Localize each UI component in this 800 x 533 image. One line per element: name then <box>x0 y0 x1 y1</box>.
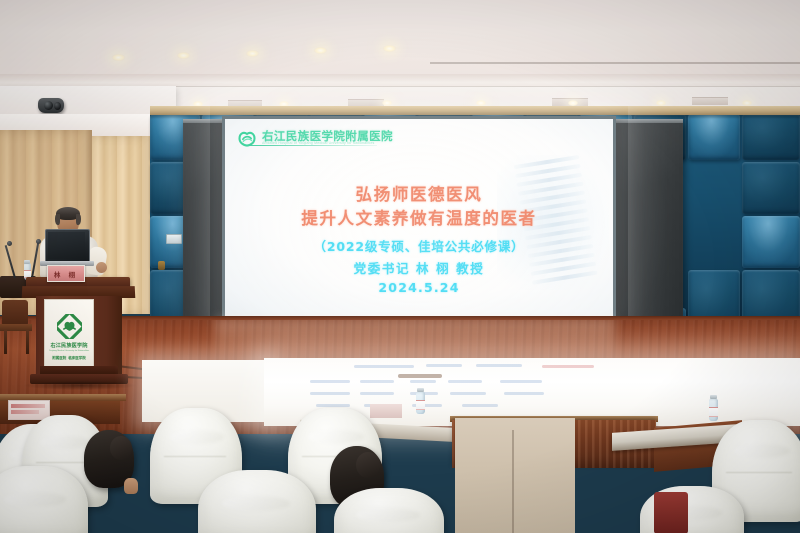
wall-pad <box>742 114 800 160</box>
chair-fold <box>356 508 420 522</box>
ceiling-upper <box>0 0 800 78</box>
chair-seam <box>164 456 226 457</box>
chair-fold <box>40 436 90 449</box>
ceiling-downlight <box>246 50 259 57</box>
lecture-hall-photo: 右江民族医学院附属医院 Affiliated Hospital of Youji… <box>0 0 800 533</box>
chair-fold <box>308 430 364 444</box>
red-seat-cushion <box>654 492 688 533</box>
slide-organization-name: 右江民族医学院附属医院 <box>262 130 393 142</box>
blackboard-rail <box>611 119 683 123</box>
desk-placard-text <box>11 410 39 414</box>
ceiling-seam <box>430 62 800 64</box>
banner-text-line <box>310 392 350 395</box>
side-chair-leg <box>4 330 7 354</box>
wall-pad <box>688 114 740 160</box>
attendee-hair-bun <box>110 436 132 460</box>
chair-fold <box>4 492 66 507</box>
banner-text-line <box>542 365 594 368</box>
camera-lens-icon <box>54 102 61 110</box>
podium-organization-name: 右江民族医学院 <box>50 342 87 349</box>
slide-title-line-1: 弘扬师医德医风 <box>225 181 613 205</box>
ceiling-downlight <box>383 45 396 52</box>
tile-seam <box>512 430 514 533</box>
ceiling-downlight <box>177 52 190 59</box>
speaker-hair-side <box>76 214 81 225</box>
chair-fold <box>734 444 790 458</box>
side-chair-back <box>2 300 28 326</box>
podium-logo-panel: 右江民族医学院 Youjiang Medical University for … <box>44 299 94 375</box>
chair-fold <box>170 430 224 444</box>
podium-sub-label-right: 临床医学院 <box>68 356 86 361</box>
attendee-hair-bun <box>356 452 380 478</box>
slide-logo-underline <box>249 145 377 146</box>
water-bottle-cap <box>710 395 717 399</box>
banner-text-line <box>310 380 350 383</box>
slide-title-line-2: 提升人文素养做有温度的医者 <box>225 205 613 229</box>
banner-text-line <box>504 392 544 395</box>
podium-sub-label-left: 附属医院 <box>52 356 66 361</box>
podium-shadow <box>24 381 136 390</box>
speaker-hand <box>96 262 107 273</box>
projection-screen: 右江民族医学院附属医院 Affiliated Hospital of Youji… <box>225 119 613 320</box>
wall-knob[interactable] <box>158 261 165 270</box>
banner-text-line <box>426 364 462 367</box>
banner-text-line <box>450 392 486 395</box>
ceiling-downlight <box>112 54 125 61</box>
banner-text-line <box>316 404 350 407</box>
wall-trim-molding <box>150 106 800 115</box>
banner-text-line <box>462 404 498 407</box>
slide-subtitle-line-2: 党委书记 林 栩 教授 <box>225 258 613 277</box>
camera-lens-icon <box>44 101 53 110</box>
green-heart-leaf-logo-icon <box>237 130 257 147</box>
speaker-nameplate: 林 栩 <box>47 265 85 282</box>
banner-text-line <box>476 364 522 367</box>
water-bottle-cap <box>417 388 424 392</box>
banner-text-line <box>360 380 394 383</box>
green-diamond-heart-logo-icon <box>57 314 82 339</box>
podium-organization-name-en: Youjiang Medical University for National… <box>49 350 89 352</box>
laptop-screen[interactable] <box>48 232 85 259</box>
desk-placard-text <box>11 404 45 408</box>
water-bottle-cap <box>24 260 30 264</box>
tile-aisle-floor <box>455 418 575 533</box>
ceiling-downlight <box>314 47 327 54</box>
banner-text-line <box>500 380 542 383</box>
chair-fold <box>222 496 290 511</box>
speaker-hair-side <box>55 214 60 225</box>
banner-text-line <box>354 365 414 368</box>
blackboard-panel-left <box>183 121 226 321</box>
ceiling-vent <box>692 97 728 105</box>
banner-text-line <box>410 380 436 383</box>
blackboard-rail <box>183 119 226 123</box>
wall-pad <box>742 162 800 214</box>
blackboard-panel-right <box>611 121 683 321</box>
slide-subtitle-line-1: （2022级专硕、佳培公共必修课） <box>225 236 613 255</box>
wall-pad <box>742 216 800 268</box>
water-bottle-label <box>416 400 425 410</box>
water-bottle-label <box>709 407 718 417</box>
attendee-neck <box>124 478 138 494</box>
light-switch-plate[interactable] <box>166 234 182 244</box>
banner-text-line <box>360 392 394 395</box>
chair-seam <box>726 472 792 473</box>
desk-placard-middle <box>370 404 402 418</box>
banner-text-line <box>448 380 482 383</box>
side-chair-leg <box>26 330 29 354</box>
speaker-nameplate-text: 林 栩 <box>54 269 78 279</box>
banner-underline <box>398 374 442 378</box>
microphone-head-icon <box>7 241 12 246</box>
slide-subtitle-date: 2024.5.24 <box>225 280 613 295</box>
